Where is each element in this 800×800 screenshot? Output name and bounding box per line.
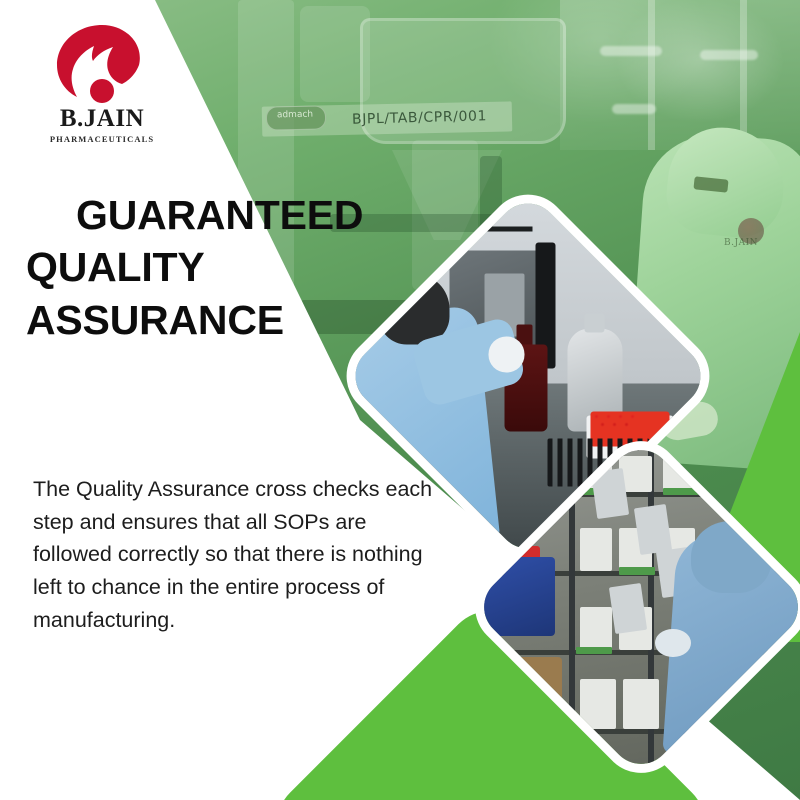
headline-line-2: QUALITY ASSURANCE bbox=[20, 241, 440, 346]
steel-container-cap bbox=[585, 313, 605, 333]
hanging-tag bbox=[609, 583, 648, 634]
bjain-flame-mark-icon bbox=[56, 24, 148, 104]
page-title: GUARANTEED QUALITY ASSURANCE bbox=[20, 189, 440, 346]
headline-line-1: GUARANTEED bbox=[20, 189, 440, 241]
brand-name: B.JAIN bbox=[36, 106, 168, 131]
poster-canvas: admach BJPL/TAB/CPR/001 B.JAIN bbox=[0, 0, 800, 800]
stock-container bbox=[580, 679, 616, 729]
stock-container bbox=[623, 679, 659, 729]
hanging-tag bbox=[634, 504, 673, 555]
shelf-label-green bbox=[619, 567, 655, 574]
shelf-label-green bbox=[576, 647, 612, 654]
ceiling-lamp bbox=[700, 50, 758, 60]
brand-logo[interactable]: B.JAIN PHARMACEUTICALS bbox=[36, 24, 168, 140]
blue-drum bbox=[483, 557, 555, 636]
stock-container bbox=[580, 528, 612, 571]
ceiling-lamp bbox=[600, 46, 662, 56]
window-mullion bbox=[740, 0, 747, 150]
cleanroom-window bbox=[560, 0, 800, 150]
gown-logo-text: B.JAIN bbox=[724, 238, 758, 248]
lab-technician-glove bbox=[489, 337, 524, 372]
window-mullion bbox=[648, 0, 655, 150]
body-paragraph: The Quality Assurance cross checks each … bbox=[33, 473, 433, 636]
ceiling-lamp bbox=[612, 104, 656, 114]
machine-brand-text: admach bbox=[268, 109, 322, 120]
shelf-label-green bbox=[663, 488, 699, 495]
stock-container bbox=[580, 607, 612, 650]
brand-tagline: PHARMACEUTICALS bbox=[36, 134, 168, 144]
